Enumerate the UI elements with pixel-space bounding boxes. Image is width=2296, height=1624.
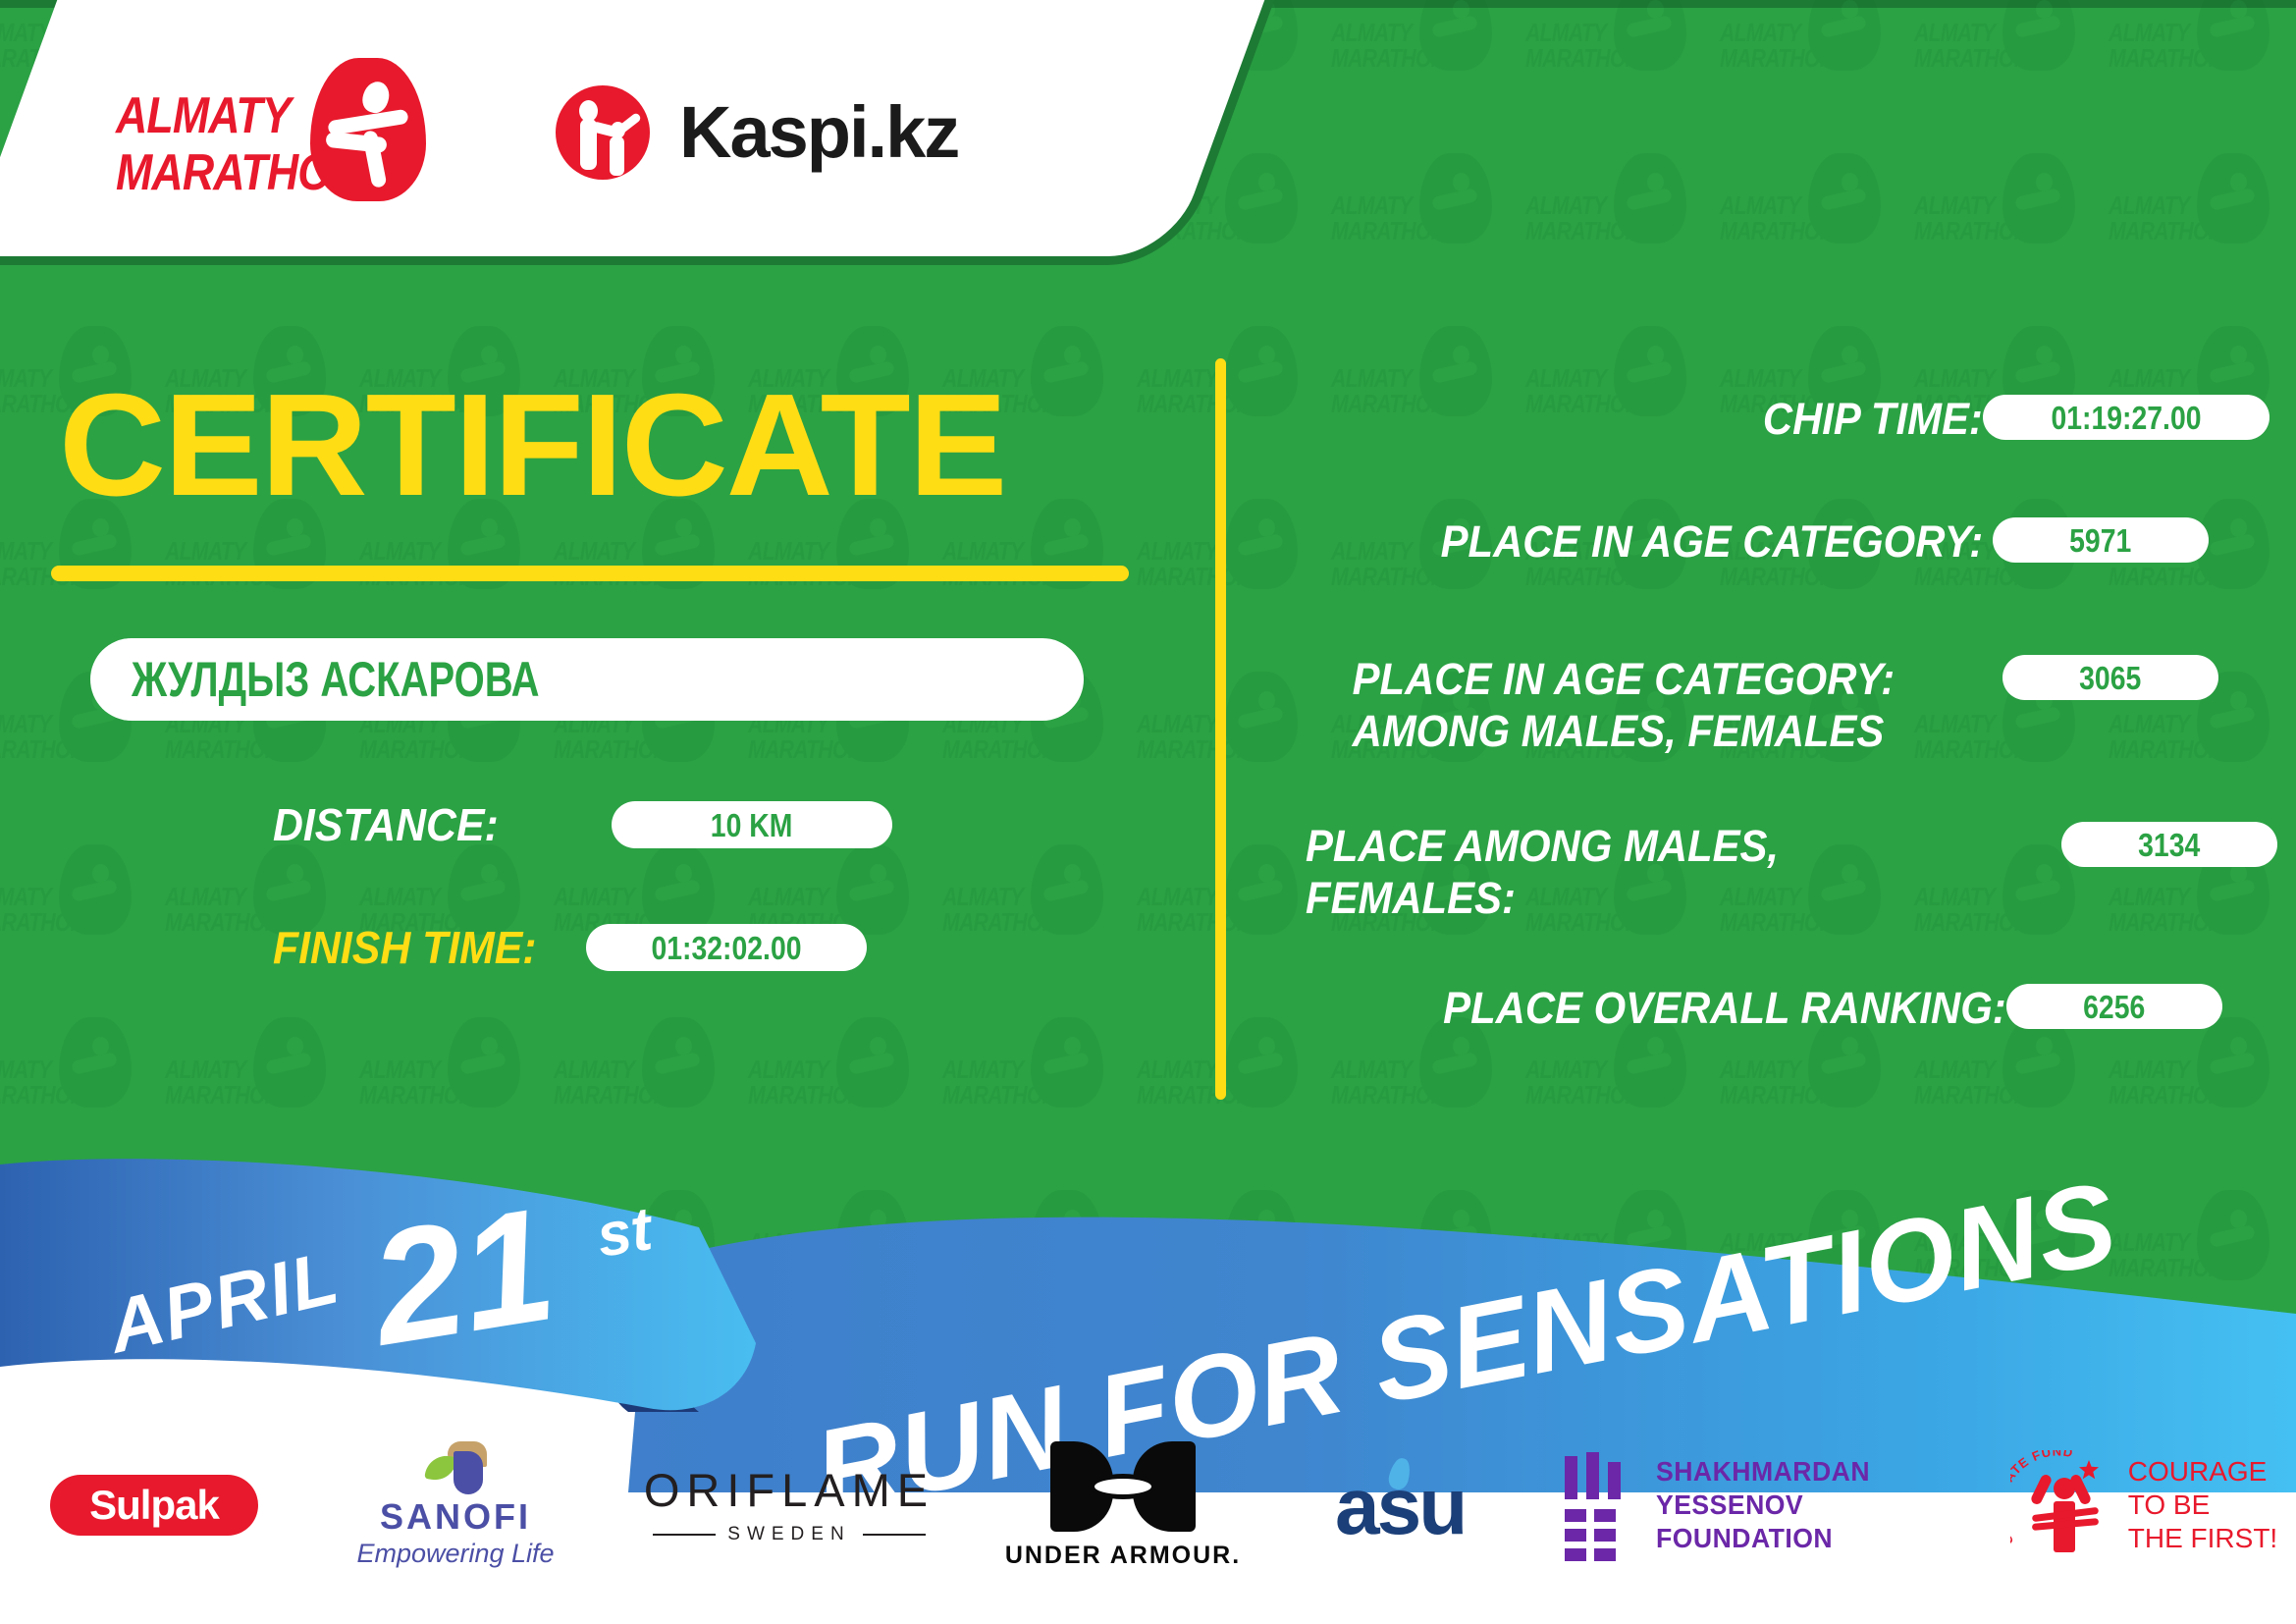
header-content: ALMATYMARATHON Kaspi.kz — [0, 0, 1158, 265]
distance-label: DISTANCE: — [273, 800, 499, 849]
watermark-line-1: ALMATY — [1525, 192, 1606, 218]
watermark-line-2: MARATHON — [1914, 909, 2028, 935]
watermark-line-1: ALMATY — [359, 884, 440, 909]
sanofi-logo: SANOFI Empowering Life — [356, 1441, 554, 1569]
distance-row: DISTANCE: 10 KM — [273, 800, 892, 849]
watermark-line-1: ALMATY — [2109, 1056, 2189, 1082]
watermark-line-1: ALMATY — [554, 884, 634, 909]
watermark-line-1: ALMATY — [2109, 192, 2189, 218]
watermark-line-2: MARATHON — [1914, 218, 2028, 244]
watermark-line-1: ALMATY — [1914, 884, 1995, 909]
watermark-line-1: ALMATY — [359, 1056, 440, 1082]
watermark-line-1: ALMATY — [165, 884, 245, 909]
courage-head — [2054, 1478, 2075, 1499]
watermark-tile: ALMATYMARATHON — [1525, 153, 1692, 300]
ribbon-day: 21 — [357, 1173, 565, 1380]
watermark-line-1: ALMATY — [2109, 884, 2189, 909]
kaspi-people-icon — [556, 85, 650, 180]
kaspi-wordmark: Kaspi.kz — [679, 96, 958, 169]
oriflame-rule-left — [653, 1534, 716, 1536]
watermark-line-1: ALMATY — [0, 884, 51, 909]
watermark-tile: ALMATYMARATHON — [1914, 153, 2081, 300]
watermark-tile: ALMATYMARATHON — [942, 844, 1109, 992]
watermark-line-2: MARATHON — [1331, 45, 1445, 71]
place-age-category-gender-label: PLACE IN AGE CATEGORY: AMONG MALES, FEMA… — [1352, 653, 1895, 757]
sanofi-swoosh-icon — [424, 1441, 487, 1494]
watermark-line-2: MARATHON — [1720, 218, 1834, 244]
watermark-line-2: MARATHON — [2109, 736, 2222, 762]
place-among-gender-value-pill: 3134 — [2061, 822, 2277, 867]
watermark-line-2: MARATHON — [0, 909, 84, 935]
watermark-line-1: ALMATY — [165, 538, 245, 564]
watermark-line-2: MARATHON — [2109, 909, 2222, 935]
sanofi-wordmark: SANOFI — [380, 1498, 531, 1536]
watermark-line-1: ALMATY — [1331, 365, 1412, 391]
place-age-category-label: PLACE IN AGE CATEGORY: — [1440, 515, 1983, 568]
watermark-line-2: MARATHON — [165, 909, 279, 935]
watermark-line-2: MARATHON — [2109, 45, 2222, 71]
watermark-line-1: ALMATY — [1137, 884, 1217, 909]
running-man-drop-icon — [310, 58, 426, 201]
place-overall-ranking-value: 6256 — [2083, 991, 2145, 1023]
sponsor-sulpak: Sulpak — [0, 1422, 308, 1589]
oriflame-country: SWEDEN — [716, 1524, 862, 1545]
sponsor-under-armour: UNDER ARMOUR. — [976, 1422, 1270, 1589]
watermark-line-1: ALMATY — [0, 365, 51, 391]
yess-block-2 — [1594, 1509, 1616, 1522]
courage-figure-icon: CORPORATE FUND — [2010, 1450, 2116, 1560]
sponsor-sanofi: SANOFI Empowering Life — [308, 1422, 603, 1589]
watermark-line-1: ALMATY — [1525, 20, 1606, 45]
watermark-line-1: ALMATY — [554, 1056, 634, 1082]
watermark-line-2: MARATHON — [942, 736, 1056, 762]
yess-block-1 — [1565, 1509, 1586, 1522]
watermark-line-2: MARATHON — [165, 736, 279, 762]
watermark-line-2: MARATHON — [1331, 218, 1445, 244]
place-overall-ranking-label: PLACE OVERALL RANKING: — [1443, 982, 2006, 1034]
yess-block-5 — [1565, 1548, 1586, 1561]
watermark-line-2: MARATHON — [748, 736, 862, 762]
watermark-line-1: ALMATY — [1331, 20, 1412, 45]
chip-time-value-pill: 01:19:27.00 — [1983, 395, 2269, 440]
watermark-line-1: ALMATY — [748, 1056, 828, 1082]
watermark-line-1: ALMATY — [1331, 192, 1412, 218]
sanofi-blue-shape — [454, 1451, 483, 1494]
yess-block-4 — [1594, 1529, 1616, 1542]
place-age-category-value: 5971 — [2069, 524, 2131, 557]
finish-time-label: FINISH TIME: — [273, 923, 537, 972]
watermark-line-1: ALMATY — [1720, 1056, 1800, 1082]
watermark-line-1: ALMATY — [942, 884, 1023, 909]
watermark-line-2: MARATHON — [0, 736, 84, 762]
yess-block-3 — [1565, 1529, 1586, 1542]
watermark-line-1: ALMATY — [942, 538, 1023, 564]
sponsor-yessenov-foundation: SHAKHMARDAN YESSENOV FOUNDATION — [1565, 1422, 1997, 1589]
watermark-line-2: MARATHON — [1331, 391, 1445, 416]
watermark-line-1: ALMATY — [1137, 365, 1217, 391]
watermark-line-2: MARATHON — [1137, 909, 1251, 935]
asu-logo: asu — [1335, 1458, 1500, 1552]
watermark-tile: ALMATYMARATHON — [1914, 844, 2081, 992]
courage-fund-logo: CORPORATE FUND COURAGE TO BE THE FIRST! — [2010, 1450, 2277, 1560]
kaspi-logo: Kaspi.kz — [556, 85, 958, 180]
yess-bar-2 — [1586, 1452, 1599, 1499]
sanofi-green-shape — [424, 1453, 456, 1483]
watermark-tile: ALMATYMARATHON — [1331, 0, 1498, 128]
watermark-line-1: ALMATY — [1137, 538, 1217, 564]
distance-value-pill: 10 KM — [612, 801, 892, 848]
watermark-line-2: MARATHON — [2109, 218, 2222, 244]
chip-time-label: CHIP TIME: — [1763, 393, 1983, 445]
watermark-line-2: MARATHON — [1525, 391, 1639, 416]
watermark-line-1: ALMATY — [554, 538, 634, 564]
watermark-line-1: ALMATY — [2109, 711, 2189, 736]
watermark-line-1: ALMATY — [1137, 711, 1217, 736]
certificate-page: ALMATYMARATHONALMATYMARATHONALMATYMARATH… — [0, 0, 2296, 1624]
under-armour-wordmark: UNDER ARMOUR. — [1005, 1542, 1241, 1570]
yessenov-bars-icon — [1565, 1452, 1630, 1558]
watermark-line-2: MARATHON — [1137, 391, 1251, 416]
place-among-gender-value: 3134 — [2138, 829, 2200, 861]
watermark-line-1: ALMATY — [165, 1056, 245, 1082]
courage-fund-wordmark: COURAGE TO BE THE FIRST! — [2128, 1455, 2277, 1555]
star-icon — [2079, 1460, 2099, 1480]
athlete-name-value: ЖУЛДЫЗ АСКАРОВА — [132, 652, 540, 707]
watermark-tile: ALMATYMARATHON — [1525, 326, 1692, 473]
place-age-category-gender-value-pill: 3065 — [2002, 655, 2218, 700]
watermark-line-1: ALMATY — [748, 884, 828, 909]
watermark-tile: ALMATYMARATHON — [1331, 326, 1498, 473]
watermark-line-1: ALMATY — [1137, 1056, 1217, 1082]
watermark-line-1: ALMATY — [1914, 711, 1995, 736]
watermark-line-1: ALMATY — [0, 711, 51, 736]
watermark-line-2: MARATHON — [554, 736, 667, 762]
watermark-line-1: ALMATY — [942, 1056, 1023, 1082]
watermark-line-2: MARATHON — [1914, 736, 2028, 762]
ua-center-oval — [1090, 1474, 1156, 1499]
watermark-line-1: ALMATY — [1720, 20, 1800, 45]
watermark-line-1: ALMATY — [1914, 365, 1995, 391]
watermark-line-1: ALMATY — [1914, 1056, 1995, 1082]
watermark-line-1: ALMATY — [1525, 365, 1606, 391]
ribbon-ordinal: st — [592, 1195, 659, 1271]
sponsor-asu: asu — [1270, 1422, 1565, 1589]
sponsor-bar: Sulpak SANOFI Empowering Life ORIFLAME S… — [0, 1422, 2296, 1589]
oriflame-sub: SWEDEN — [653, 1524, 926, 1545]
almaty-marathon-logo: ALMATYMARATHON — [116, 44, 440, 221]
title-underline — [51, 566, 1129, 581]
watermark-line-1: ALMATY — [0, 538, 51, 564]
place-overall-ranking-value-pill: 6256 — [2006, 984, 2222, 1029]
under-armour-logo: UNDER ARMOUR. — [1005, 1441, 1241, 1570]
yess-bar-3 — [1608, 1462, 1621, 1499]
watermark-line-1: ALMATY — [1525, 1056, 1606, 1082]
watermark-tile: ALMATYMARATHON — [2109, 0, 2275, 128]
runner-head-shape — [359, 79, 394, 116]
watermark-line-2: MARATHON — [1914, 45, 2028, 71]
watermark-tile: ALMATYMARATHON — [1331, 153, 1498, 300]
watermark-tile: ALMATYMARATHON — [1525, 0, 1692, 128]
watermark-line-2: MARATHON — [1525, 218, 1639, 244]
yess-bar-1 — [1565, 1456, 1577, 1499]
watermark-line-1: ALMATY — [0, 1056, 51, 1082]
watermark-line-2: MARATHON — [1137, 736, 1251, 762]
watermark-line-2: MARATHON — [2109, 564, 2222, 589]
watermark-tile: ALMATYMARATHON — [2109, 153, 2275, 300]
vertical-divider — [1215, 358, 1226, 1100]
watermark-line-2: MARATHON — [1331, 564, 1445, 589]
watermark-line-1: ALMATY — [1914, 192, 1995, 218]
watermark-line-1: ALMATY — [1720, 365, 1800, 391]
athlete-name-field: ЖУЛДЫЗ АСКАРОВА — [90, 638, 1084, 721]
watermark-tile: ALMATYMARATHON — [0, 844, 137, 992]
watermark-line-2: MARATHON — [359, 736, 473, 762]
oriflame-rule-right — [863, 1534, 926, 1536]
place-age-category-value-pill: 5971 — [1993, 517, 2209, 563]
yessenov-wordmark: SHAKHMARDAN YESSENOV FOUNDATION — [1656, 1455, 1980, 1555]
finish-time-value-pill: 01:32:02.00 — [586, 924, 867, 971]
watermark-line-2: MARATHON — [1137, 564, 1251, 589]
watermark-tile: ALMATYMARATHON — [1720, 0, 1887, 128]
watermark-line-2: MARATHON — [1525, 45, 1639, 71]
watermark-line-1: ALMATY — [1720, 192, 1800, 218]
watermark-line-1: ALMATY — [1914, 20, 1995, 45]
yessenov-logo: SHAKHMARDAN YESSENOV FOUNDATION — [1565, 1452, 1997, 1558]
watermark-line-2: MARATHON — [942, 909, 1056, 935]
watermark-tile: ALMATYMARATHON — [1914, 0, 2081, 128]
sponsor-oriflame: ORIFLAME SWEDEN — [603, 1422, 976, 1589]
place-age-category-gender-value: 3065 — [2079, 662, 2141, 694]
watermark-line-1: ALMATY — [2109, 365, 2189, 391]
page-title: CERTIFICATE — [59, 373, 1005, 518]
sponsor-courage-fund: CORPORATE FUND COURAGE TO BE THE FIRST! — [1997, 1422, 2291, 1589]
distance-value: 10 KM — [711, 809, 793, 841]
oriflame-wordmark: ORIFLAME — [644, 1465, 934, 1516]
almaty-line1: ALMATY — [116, 87, 291, 144]
kaspi-child-body — [610, 136, 624, 176]
watermark-line-1: ALMATY — [2109, 20, 2189, 45]
watermark-line-2: MARATHON — [1720, 45, 1834, 71]
watermark-line-1: ALMATY — [748, 538, 828, 564]
sulpak-logo: Sulpak — [50, 1475, 258, 1536]
watermark-line-1: ALMATY — [1331, 1056, 1412, 1082]
watermark-line-1: ALMATY — [1331, 538, 1412, 564]
yess-block-6 — [1594, 1548, 1616, 1561]
place-among-gender-label: PLACE AMONG MALES, FEMALES: — [1306, 820, 1779, 924]
watermark-line-1: ALMATY — [359, 538, 440, 564]
watermark-tile: ALMATYMARATHON — [1720, 153, 1887, 300]
chip-time-value: 01:19:27.00 — [2051, 402, 2201, 434]
finish-time-value: 01:32:02.00 — [651, 932, 801, 964]
oriflame-logo: ORIFLAME SWEDEN — [644, 1465, 934, 1545]
sanofi-tagline: Empowering Life — [356, 1538, 554, 1569]
finish-time-row: FINISH TIME: 01:32:02.00 — [273, 923, 867, 972]
under-armour-icon — [1050, 1441, 1196, 1532]
